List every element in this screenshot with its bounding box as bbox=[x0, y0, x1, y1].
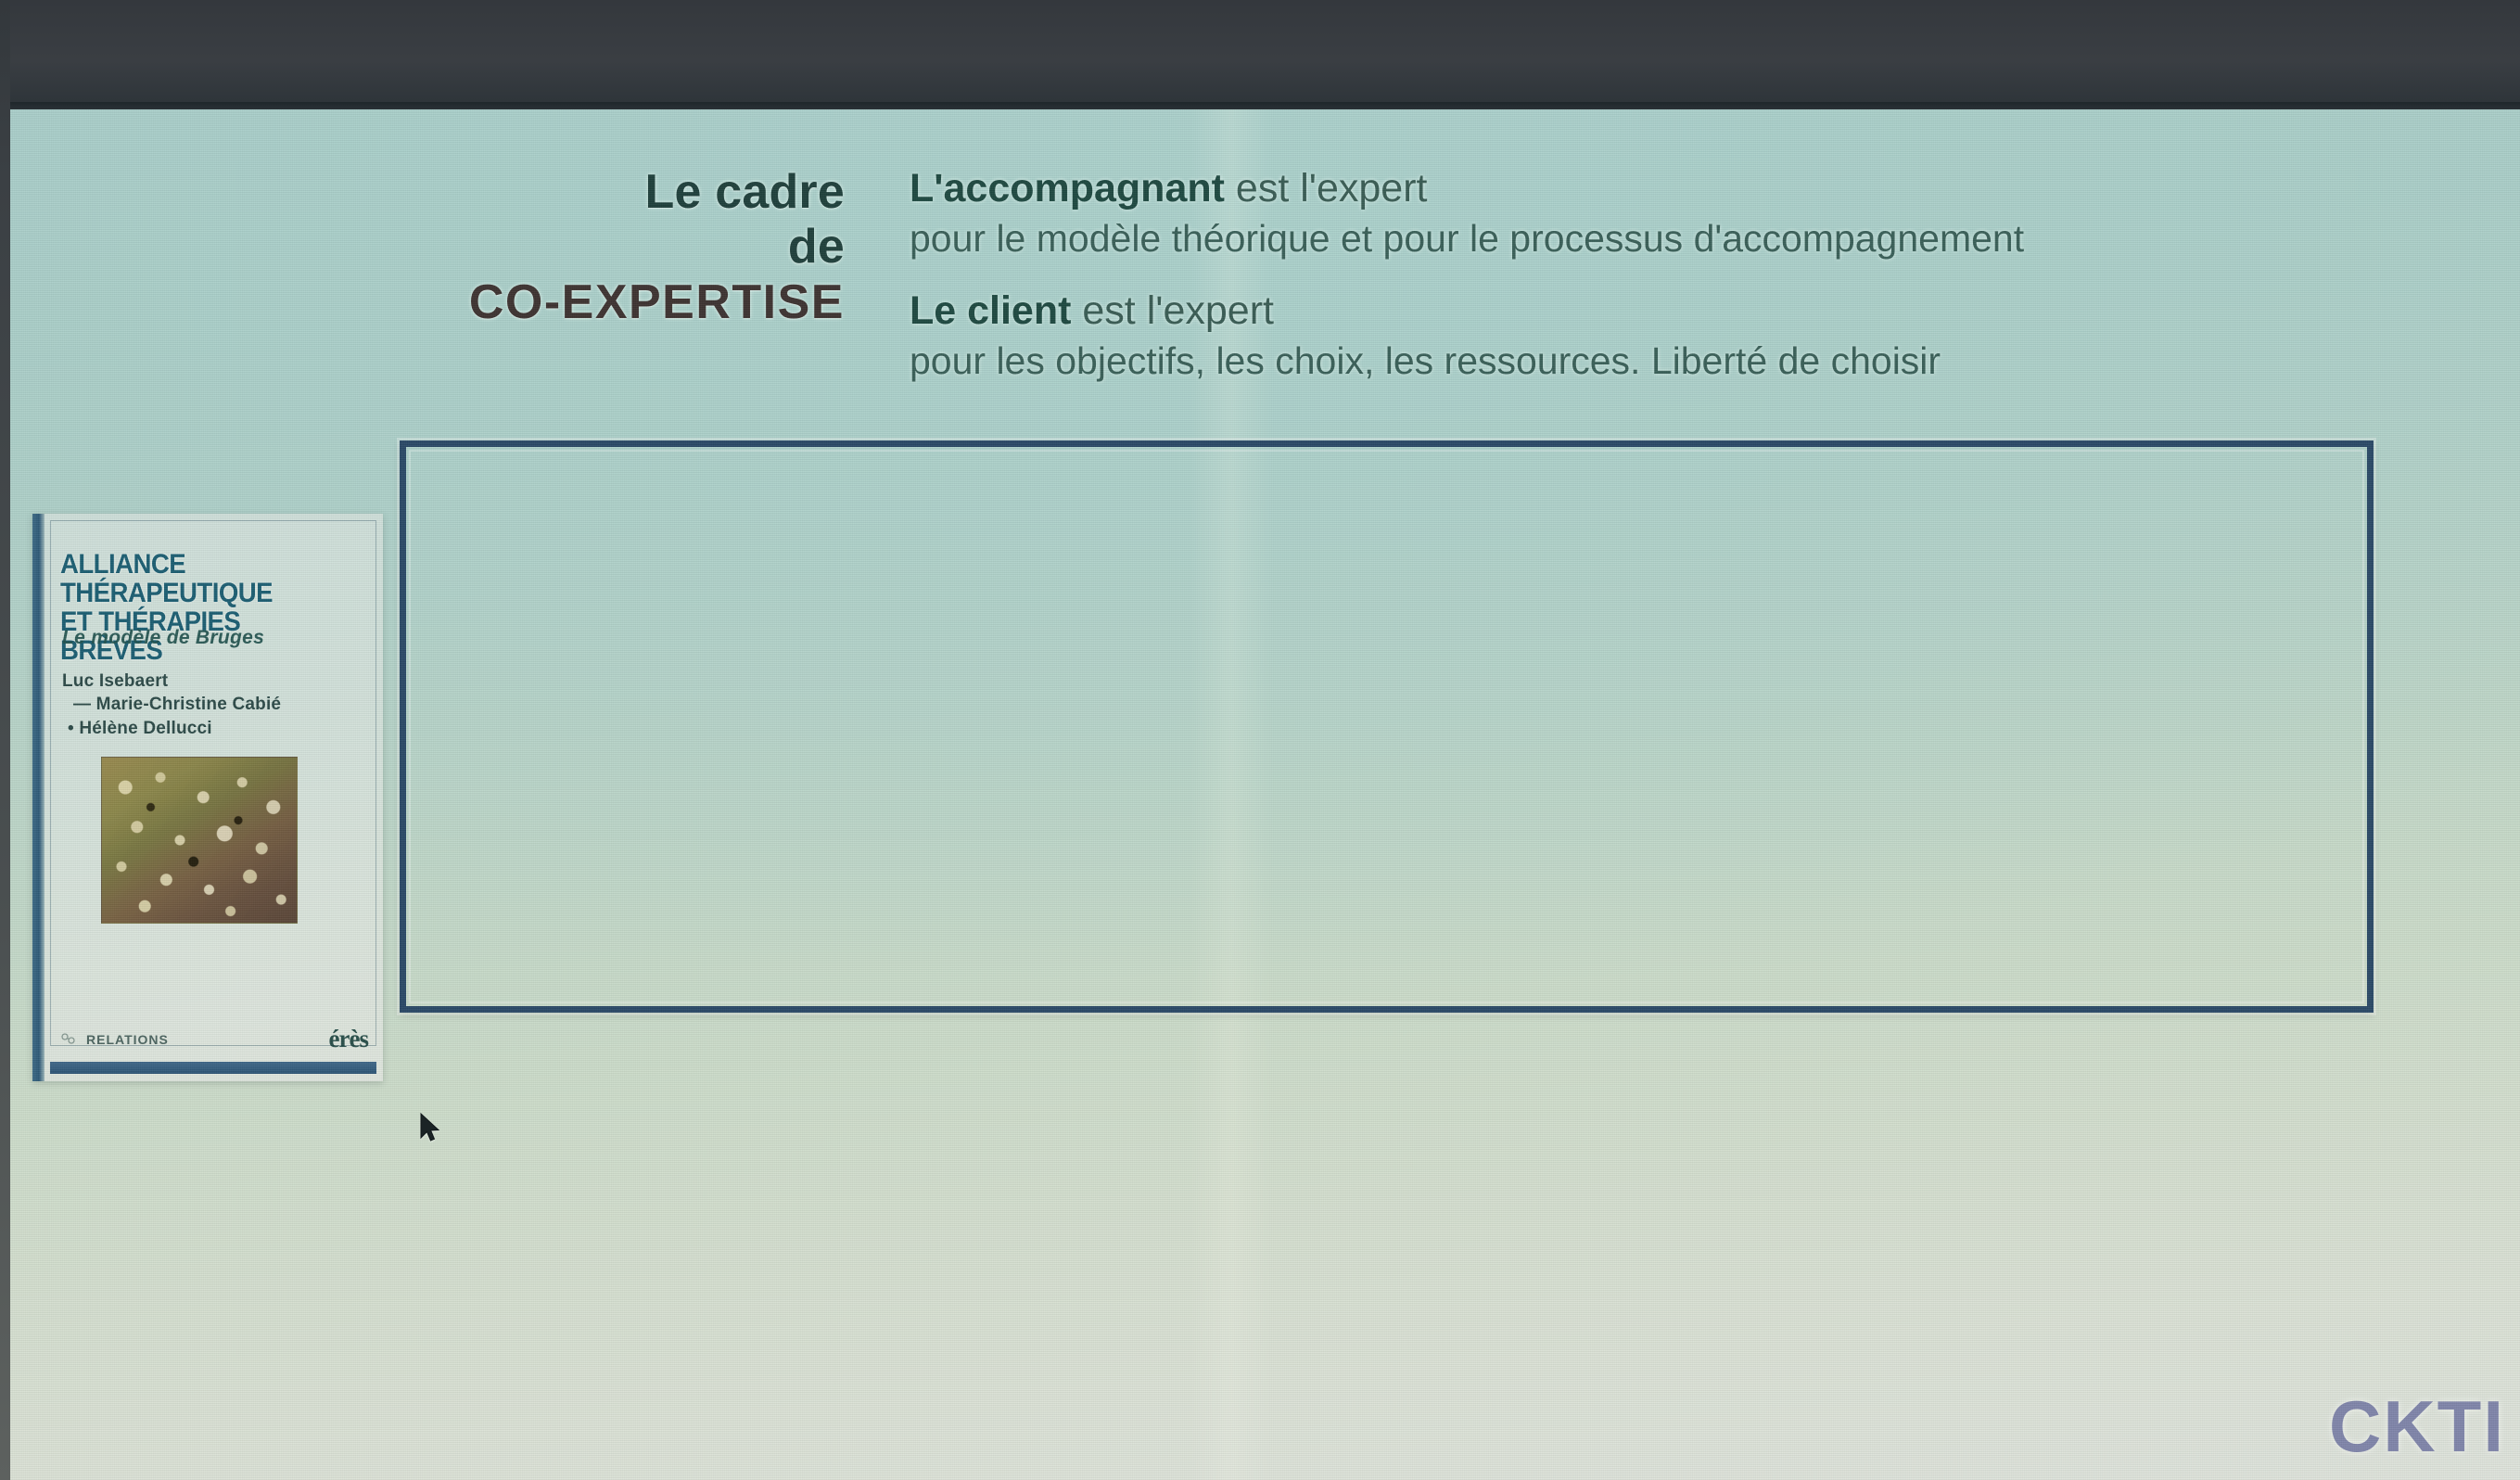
projected-slide-photo: Le cadre de CO-EXPERTISE L'accompagnant … bbox=[0, 0, 2520, 1480]
heading-line-2: de bbox=[10, 220, 845, 274]
slide-header: Le cadre de CO-EXPERTISE L'accompagnant … bbox=[10, 165, 2439, 380]
statement-lead-subject: L'accompagnant bbox=[910, 166, 1225, 211]
book-title-line-1: ALLIANCE THÉRAPEUTIQUE bbox=[60, 549, 273, 608]
content-frame-inner-outline bbox=[409, 450, 2364, 1003]
book-publisher: érès bbox=[329, 1025, 368, 1053]
statement-lead-rest: est l'expert bbox=[1071, 288, 1274, 333]
statement-accompagnant: L'accompagnant est l'expert pour le modè… bbox=[910, 169, 2439, 258]
book-collection: RELATIONS bbox=[60, 1032, 169, 1047]
statement-client: Le client est l'expert pour les objectif… bbox=[910, 291, 2439, 380]
photo-left-edge-strip bbox=[0, 0, 10, 1480]
book-author-2: — Marie-Christine Cabié bbox=[62, 693, 372, 716]
statement-detail: pour les objectifs, les choix, les resso… bbox=[910, 342, 2439, 380]
book-spine bbox=[32, 514, 45, 1081]
statement-lead-subject: Le client bbox=[910, 288, 1071, 333]
statement-lead: L'accompagnant est l'expert bbox=[910, 169, 2439, 209]
statement-lead: Le client est l'expert bbox=[910, 291, 2439, 331]
book-footer: RELATIONS érès bbox=[60, 1025, 368, 1053]
book-cover-artwork bbox=[101, 757, 298, 924]
relations-logo-icon bbox=[60, 1032, 79, 1047]
empty-content-frame bbox=[400, 440, 2374, 1013]
heading-line-3: CO-EXPERTISE bbox=[10, 275, 845, 330]
statement-list: L'accompagnant est l'expert pour le modè… bbox=[845, 165, 2439, 380]
heading-line-1: Le cadre bbox=[10, 165, 845, 220]
ckti-watermark: CKTI bbox=[2329, 1384, 2505, 1469]
book-subtitle: Le modèle de Bruges bbox=[62, 627, 368, 649]
book-authors: Luc Isebaert — Marie-Christine Cabié • H… bbox=[62, 670, 372, 740]
slide-surface: Le cadre de CO-EXPERTISE L'accompagnant … bbox=[10, 109, 2520, 1480]
statement-lead-rest: est l'expert bbox=[1225, 166, 1428, 211]
slide-heading: Le cadre de CO-EXPERTISE bbox=[10, 165, 845, 330]
mouse-cursor-icon bbox=[419, 1113, 443, 1144]
book-collection-label: RELATIONS bbox=[86, 1032, 169, 1047]
book-cover: ALLIANCE THÉRAPEUTIQUE ET THÉRAPIES BRÈV… bbox=[32, 514, 383, 1081]
book-bottom-bar bbox=[50, 1062, 376, 1074]
statement-detail: pour le modèle théorique et pour le proc… bbox=[910, 220, 2439, 258]
book-author-3: • Hélène Dellucci bbox=[62, 717, 372, 740]
wall-above-projection bbox=[0, 0, 2520, 111]
book-author-1: Luc Isebaert bbox=[62, 671, 168, 691]
